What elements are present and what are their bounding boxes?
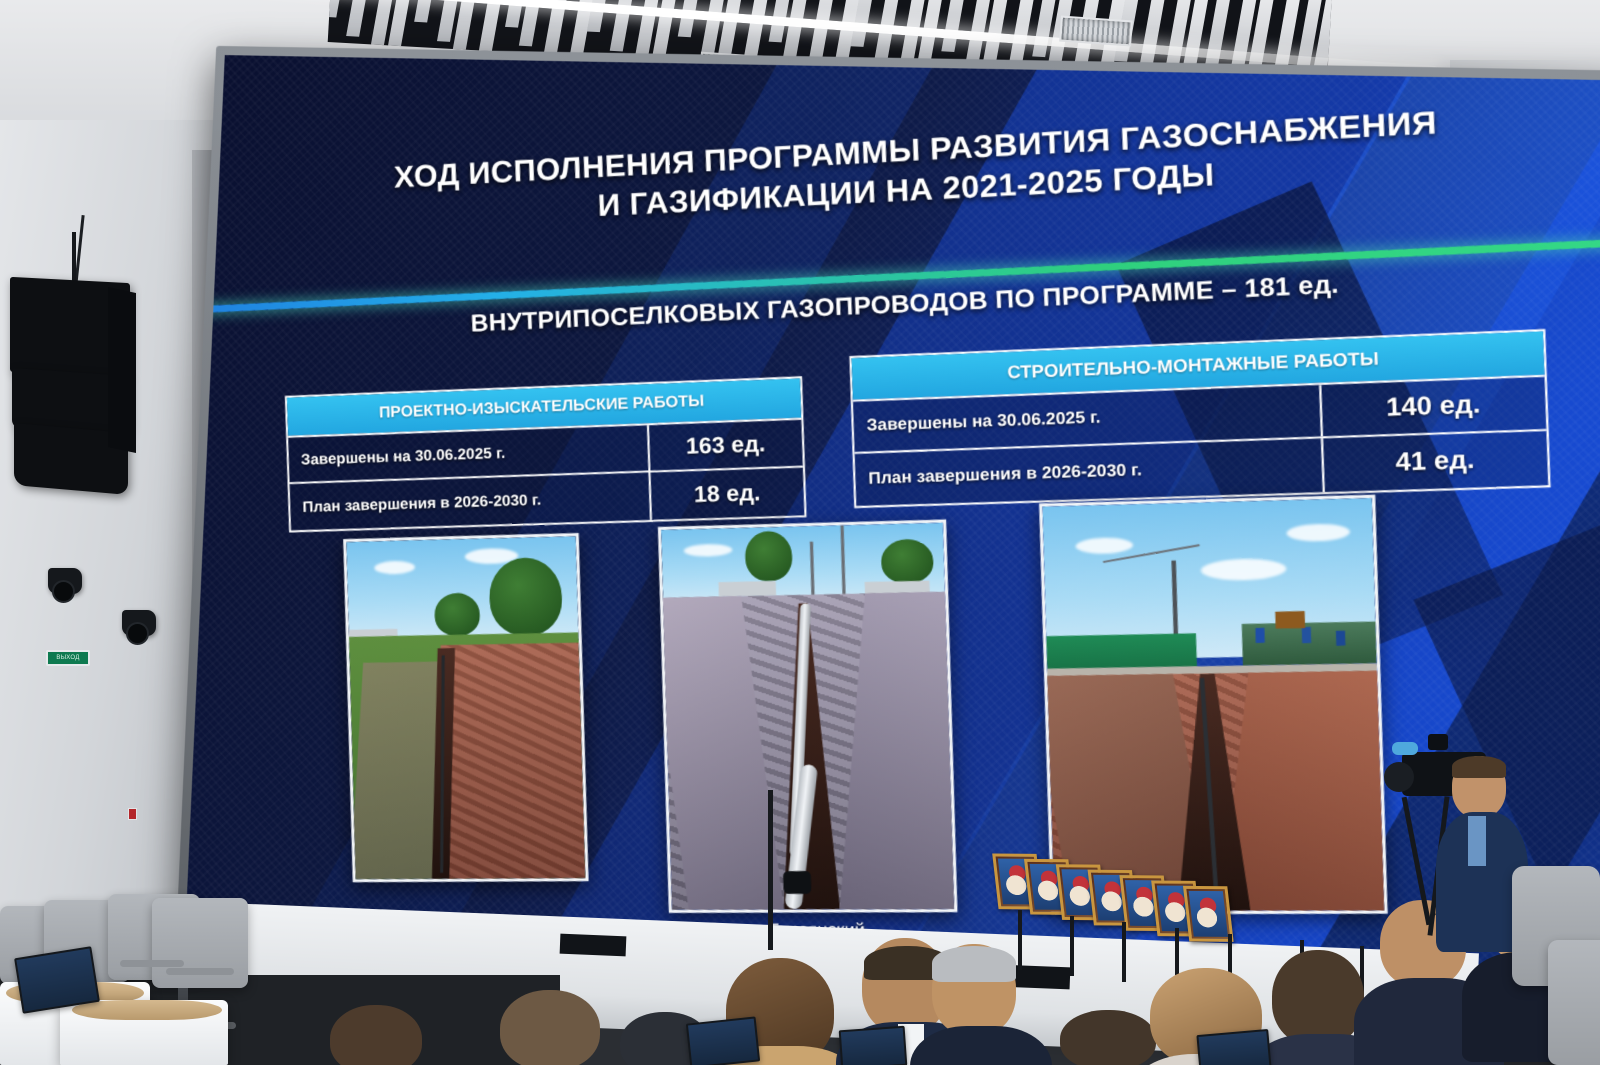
ptz-camera-upper bbox=[48, 568, 82, 594]
award-stand bbox=[1018, 910, 1022, 970]
speaker-side-wing bbox=[108, 287, 136, 453]
tablet-screen bbox=[686, 1016, 760, 1065]
award-stand bbox=[1122, 922, 1126, 982]
photo-wide-trench-fence bbox=[1039, 495, 1388, 915]
framed-award bbox=[1183, 886, 1234, 942]
row-value: 41 ед. bbox=[1321, 431, 1548, 492]
tree bbox=[881, 538, 934, 583]
construction-workers bbox=[1336, 630, 1346, 645]
fire-alarm-button bbox=[128, 808, 137, 820]
stage-slot-vent-1 bbox=[560, 934, 627, 957]
row-value: 140 ед. bbox=[1319, 377, 1546, 436]
row-value: 18 ед. bbox=[648, 468, 804, 520]
ceiling-vent-4 bbox=[1059, 16, 1133, 47]
award-stand bbox=[1070, 916, 1074, 976]
speaker-rigging-bar bbox=[72, 232, 76, 284]
tree bbox=[488, 557, 562, 636]
construction-workers bbox=[1302, 627, 1312, 643]
photo-pipeline-in-trench bbox=[658, 519, 958, 912]
ptz-camera-lower bbox=[122, 610, 156, 636]
framed-awards-row bbox=[993, 851, 1246, 942]
pipe-fitting bbox=[783, 871, 811, 894]
desk-wood-top bbox=[72, 1000, 222, 1020]
exit-sign: ВЫХОД bbox=[46, 650, 90, 666]
chair-armrest bbox=[120, 960, 184, 967]
microphone-stand-center bbox=[768, 790, 773, 950]
chair-armrest bbox=[166, 968, 234, 975]
row-value: 163 ед. bbox=[647, 420, 803, 471]
tablet-screen bbox=[1196, 1029, 1271, 1065]
excavator bbox=[1275, 611, 1305, 629]
conference-hall-scene: ВЫХОД ХОД ИСПОЛНЕ bbox=[0, 0, 1600, 1065]
slide-canvas: ХОД ИСПОЛНЕНИЯ ПРОГРАММЫ РАЗВИТИЯ ГАЗОСН… bbox=[185, 55, 1600, 1040]
screen-bezel: ХОД ИСПОЛНЕНИЯ ПРОГРАММЫ РАЗВИТИЯ ГАЗОСН… bbox=[176, 46, 1600, 1051]
table-construction-installation-works: СТРОИТЕЛЬНО-МОНТАЖНЫЕ РАБОТЫ Завершены н… bbox=[849, 329, 1550, 508]
photo-trench-village-road bbox=[343, 533, 588, 882]
tree bbox=[434, 593, 480, 637]
chair-right-2 bbox=[1548, 940, 1600, 1065]
tablet-screen bbox=[839, 1026, 908, 1065]
led-presentation-screen[interactable]: ХОД ИСПОЛНЕНИЯ ПРОГРАММЫ РАЗВИТИЯ ГАЗОСН… bbox=[176, 46, 1600, 1051]
village-house bbox=[718, 580, 776, 596]
construction-workers bbox=[1256, 628, 1265, 643]
table-design-survey-works: ПРОЕКТНО-ИЗЫСКАТЕЛЬСКИЕ РАБОТЫ Завершены… bbox=[285, 376, 807, 532]
